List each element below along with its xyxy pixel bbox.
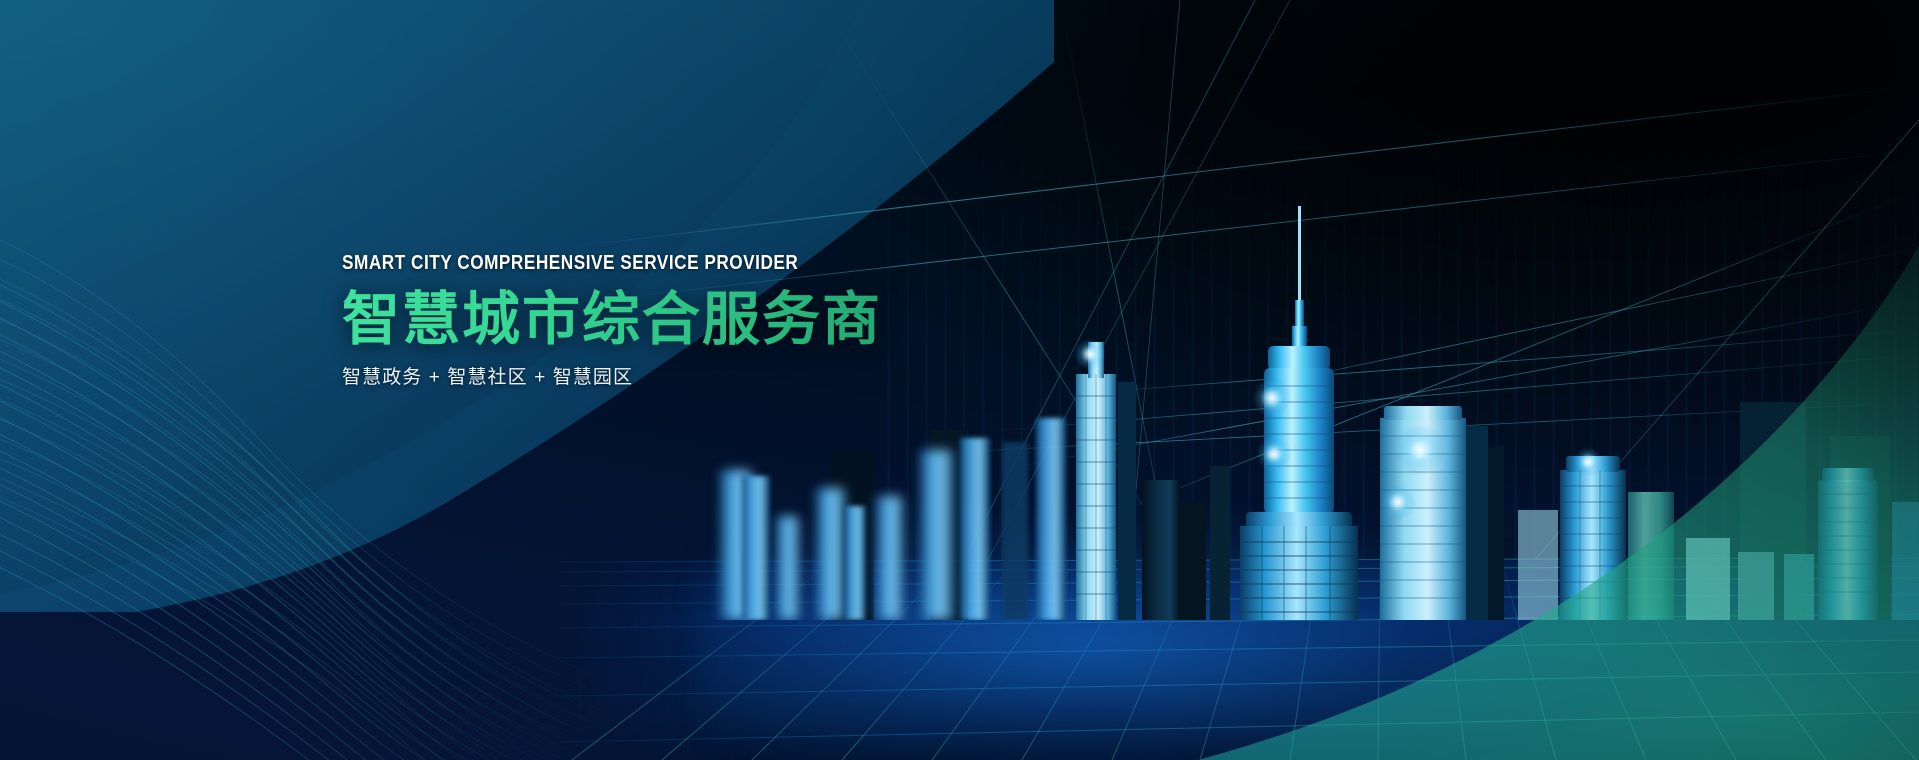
- hero-subline: 智慧政务 + 智慧社区 + 智慧园区: [342, 362, 1102, 389]
- green-curve-overlay: [1201, 202, 1919, 760]
- smart-city-hero-banner: SMART CITY COMPREHENSIVE SERVICE PROVIDE…: [0, 0, 1919, 760]
- hero-eyebrow: SMART CITY COMPREHENSIVE SERVICE PROVIDE…: [342, 252, 996, 275]
- hero-copy-block: SMART CITY COMPREHENSIVE SERVICE PROVIDE…: [342, 252, 1102, 389]
- hero-headline: 智慧城市综合服务商: [342, 289, 1102, 350]
